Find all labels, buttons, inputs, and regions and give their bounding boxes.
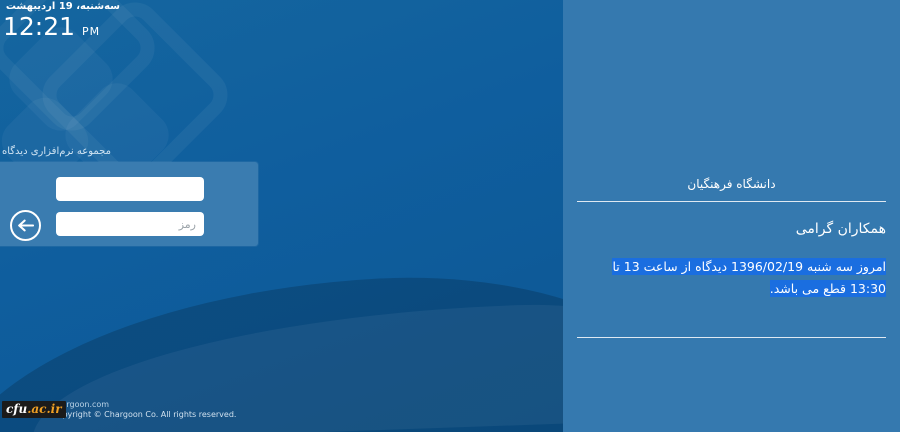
clock-time-row: 12:21 PM — [0, 14, 122, 40]
clock-time: 12:21 — [3, 14, 75, 40]
footer: chargoon.com Copyright © Chargoon Co. Al… — [0, 400, 400, 426]
cfu-watermark-badge: cfu.ac.ir — [2, 401, 66, 418]
divider-bottom — [577, 337, 886, 338]
divider-top — [577, 201, 886, 202]
clock: سه‌شنبه، 19 اردیبهشت 12:21 PM — [0, 0, 122, 40]
password-input[interactable] — [56, 212, 204, 236]
application-title-label: مجموعه نرم‌افزاری دیدگاه — [0, 146, 111, 157]
clock-meridiem: PM — [82, 25, 100, 38]
watermark-main-text: cfu — [6, 402, 27, 416]
submit-login-button[interactable] — [10, 210, 41, 241]
announcement-region: دانشگاه فرهنگیان همکاران گرامی امروز سه … — [563, 0, 900, 432]
application-title: مجموعه نرم‌افزاری دیدگاه — [0, 146, 258, 157]
username-input[interactable] — [56, 177, 204, 201]
login-screen: سه‌شنبه، 19 اردیبهشت 12:21 PM مجموعه نرم… — [0, 0, 900, 432]
watermark-tld-text: .ac.ir — [27, 402, 61, 416]
login-region: سه‌شنبه، 19 اردیبهشت 12:21 PM مجموعه نرم… — [0, 0, 563, 432]
announcement-body: امروز سه شنبه 1396/02/19 دیدگاه از ساعت … — [577, 256, 886, 300]
organization-title: دانشگاه فرهنگیان — [577, 177, 886, 191]
announcement-greeting: همکاران گرامی — [577, 219, 886, 239]
announcement-highlighted-text: امروز سه شنبه 1396/02/19 دیدگاه از ساعت … — [612, 258, 886, 297]
footer-copyright: Copyright © Chargoon Co. All rights rese… — [52, 410, 236, 419]
arrow-left-circle-icon — [17, 219, 34, 232]
